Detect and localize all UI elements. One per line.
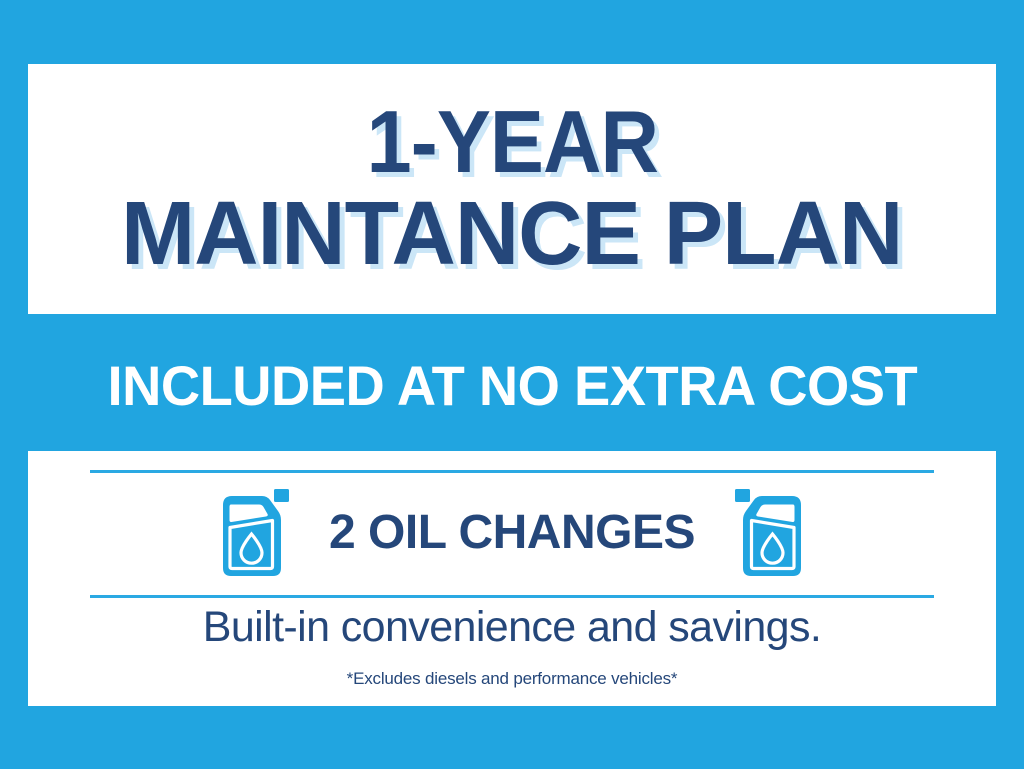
feature-row: 2 OIL CHANGES [28, 470, 996, 595]
details-card: 2 OIL CHANGES Built-in convenience and s… [28, 451, 996, 706]
headline-card: 1-YEAR MAINTANCE PLAN [28, 64, 996, 314]
headline-line-1: 1-YEAR [366, 102, 657, 183]
maintenance-plan-poster: 1-YEAR MAINTANCE PLAN INCLUDED AT NO EXT… [0, 0, 1024, 769]
headline-block: 1-YEAR MAINTANCE PLAN [28, 64, 996, 314]
tagline-text: Built-in convenience and savings. [28, 603, 996, 652]
disclaimer-text: *Excludes diesels and performance vehicl… [28, 669, 996, 689]
subtitle-banner: INCLUDED AT NO EXTRA COST [0, 330, 1024, 440]
oil-can-icon-left [215, 487, 293, 579]
feature-label: 2 OIL CHANGES [329, 505, 695, 560]
headline-line-2: MAINTANCE PLAN [121, 193, 902, 276]
divider-bottom [90, 595, 934, 598]
oil-can-icon-right [731, 487, 809, 579]
subtitle-text: INCLUDED AT NO EXTRA COST [107, 353, 917, 418]
